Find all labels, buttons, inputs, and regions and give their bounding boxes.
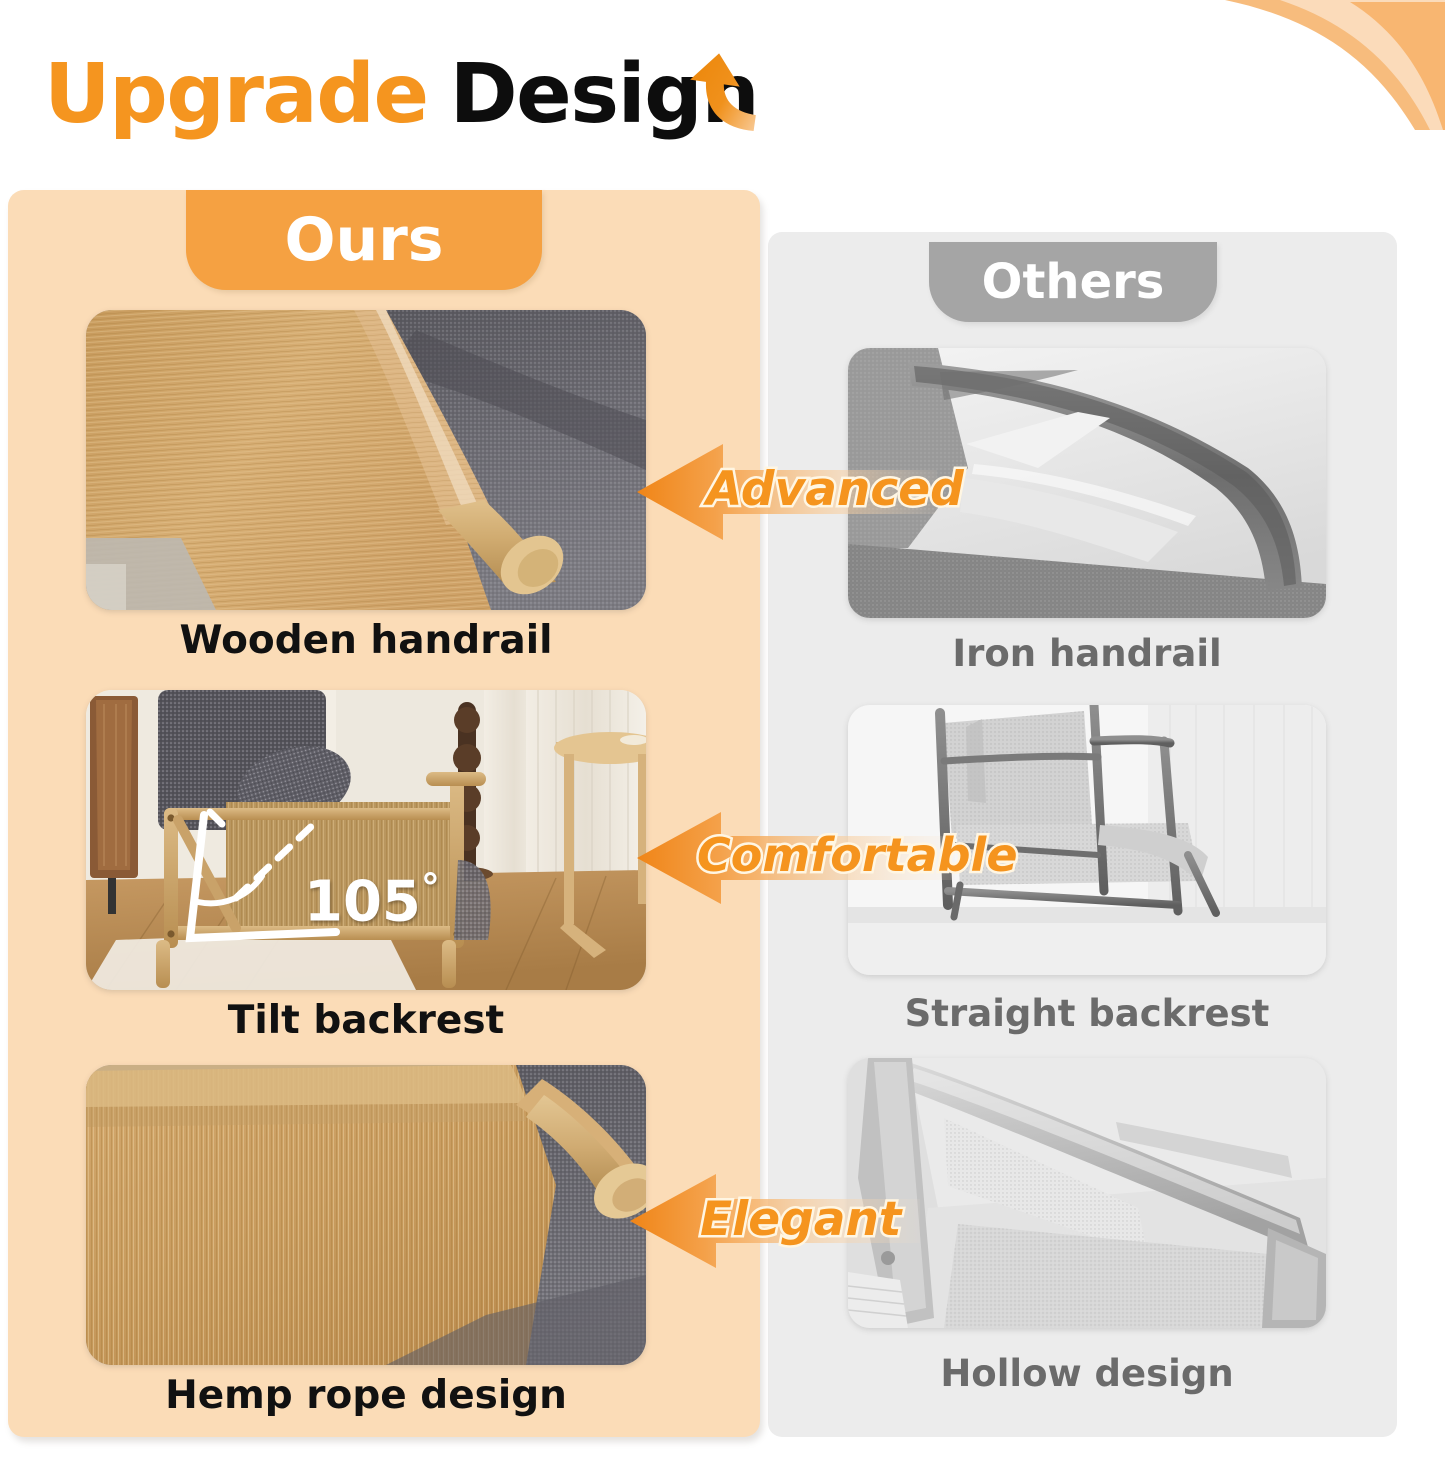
angle-number: 105 <box>304 870 421 935</box>
tab-others-label: Others <box>982 254 1165 310</box>
tab-ours-label: Ours <box>284 205 443 275</box>
angle-value: 105° <box>304 866 440 935</box>
photo-tilt-backrest: 105° <box>86 690 646 990</box>
photo-hemp-rope-design <box>86 1065 646 1365</box>
arrow-label-advanced: Advanced <box>706 462 964 517</box>
ours-caption-3: Hemp rope design <box>86 1373 646 1418</box>
arrow-label-elegant: Elegant <box>700 1192 901 1247</box>
tab-ours[interactable]: Ours <box>186 190 542 290</box>
others-card-hollow-design[interactable] <box>848 1058 1326 1328</box>
ours-caption-1: Wooden handrail <box>86 618 646 663</box>
ours-card-hemp-rope[interactable] <box>86 1065 646 1365</box>
ours-card-tilt-backrest[interactable]: 105° <box>86 690 646 990</box>
orange-swoosh-decoration <box>1095 0 1445 130</box>
photo-wooden-handrail <box>86 310 646 610</box>
photo-hollow-design <box>848 1058 1326 1328</box>
tab-others[interactable]: Others <box>929 242 1217 322</box>
angle-annotation-105: 105° <box>86 690 646 990</box>
ours-caption-2: Tilt backrest <box>86 998 646 1043</box>
arrow-label-comfortable: Comfortable <box>697 828 1018 882</box>
degree-symbol: ° <box>421 866 440 910</box>
page-title: Upgrade Design <box>44 42 758 138</box>
upward-curved-arrow-icon <box>675 28 765 138</box>
others-caption-2: Straight backrest <box>848 992 1326 1035</box>
ours-card-wooden-handrail[interactable] <box>86 310 646 610</box>
others-caption-1: Iron handrail <box>848 632 1326 675</box>
others-caption-3: Hollow design <box>848 1352 1326 1395</box>
title-upgrade: Upgrade <box>44 52 428 138</box>
infographic-canvas: Upgrade Design Ours Others <box>0 0 1445 1461</box>
